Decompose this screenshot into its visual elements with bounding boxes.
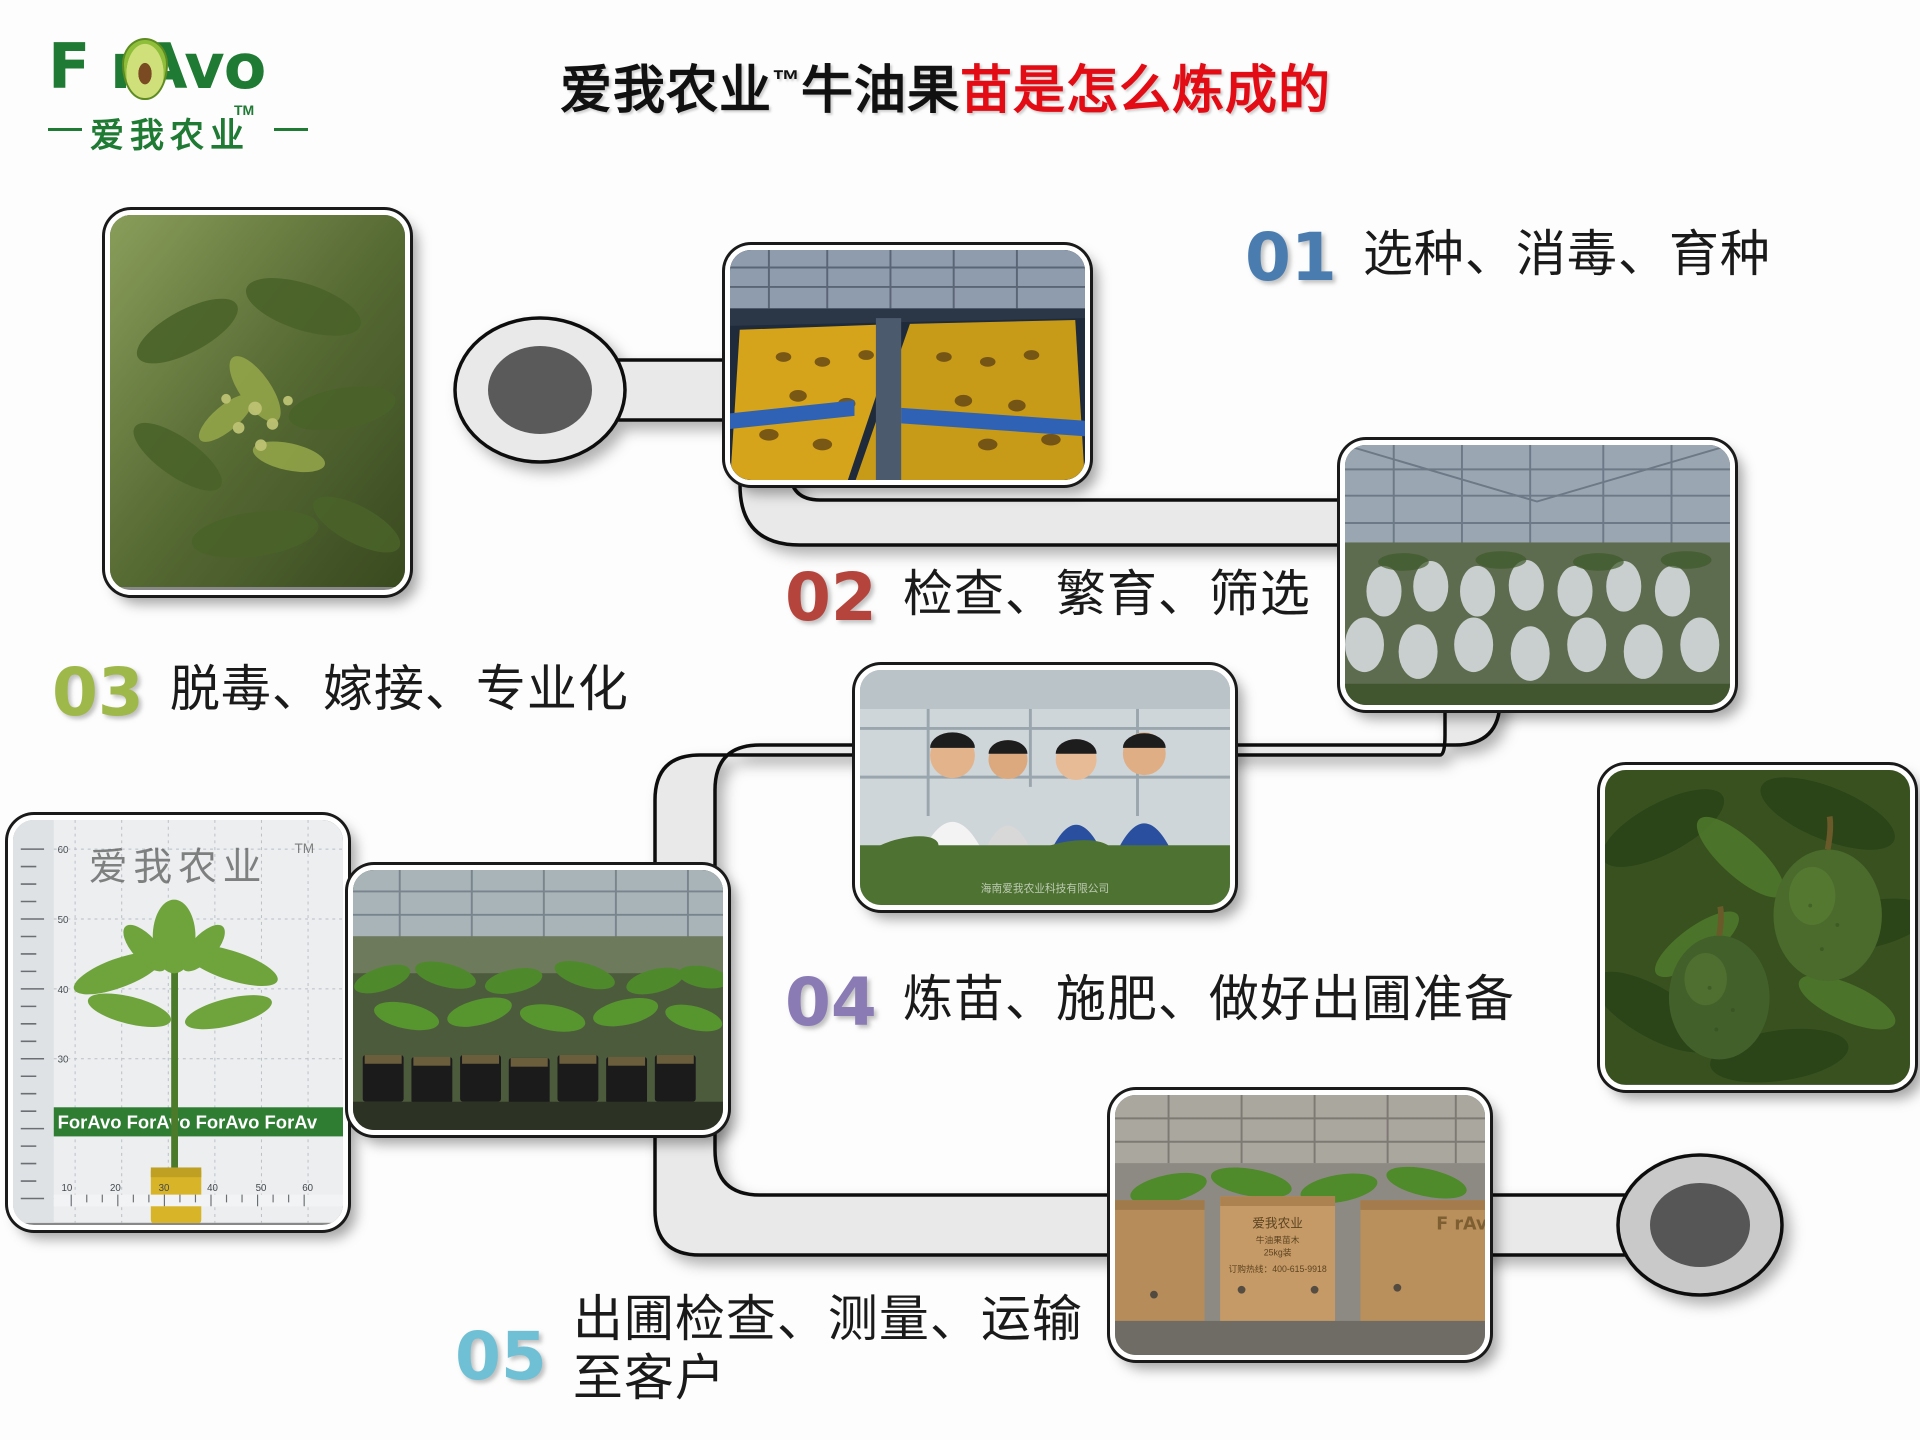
- svg-text:20: 20: [110, 1183, 121, 1194]
- svg-text:60: 60: [302, 1183, 313, 1194]
- photo-box-brand: 爱我农业: [1252, 1216, 1303, 1230]
- photo-potted-seedlings: [348, 865, 728, 1135]
- step-03-number: 03: [52, 660, 144, 726]
- title-part-red: 苗是怎么炼成的: [960, 62, 1331, 120]
- step-05-text-line2: 至客户: [573, 1349, 1083, 1408]
- step-04-text: 炼苗、施肥、做好出圃准备: [903, 970, 1515, 1029]
- page-title: 爱我农业™牛油果苗是怎么炼成的: [560, 48, 1331, 123]
- photo-seed-trays: [725, 245, 1090, 485]
- photo-avocado-flower: [105, 210, 410, 595]
- step-05-text-line1: 出圃检查、测量、运输: [573, 1291, 1083, 1347]
- step-05-text: 出圃检查、测量、运输 至客户: [573, 1290, 1083, 1408]
- photo-measuring-ruler-image: 605040 302010 爱我农业 TM ForAvo ForAvo ForA…: [13, 820, 343, 1223]
- photo-greenhouse-grafting-image: [1345, 445, 1730, 708]
- svg-text:60: 60: [58, 845, 69, 856]
- step-03: 03 脱毒、嫁接、专业化: [52, 660, 629, 726]
- svg-text:10: 10: [62, 1183, 73, 1194]
- photo-inspection-team-watermark: 海南爱我农业科技有限公司: [981, 882, 1109, 895]
- logo-wordmark-text: F rAvo: [48, 30, 318, 104]
- logo-rule-right: [274, 128, 308, 131]
- svg-text:40: 40: [58, 985, 69, 996]
- photo-box-foravo: F rAvo: [1436, 1214, 1485, 1234]
- step-05-number: 05: [455, 1324, 547, 1390]
- photo-ruler-band-text: ForAvo ForAvo ForAvo ForAv: [58, 1112, 318, 1133]
- step-01-number: 01: [1245, 225, 1337, 291]
- photo-avocado-fruit: [1600, 765, 1915, 1090]
- logo-chinese-row: 爱我农业 TM: [48, 106, 318, 148]
- photo-ruler-watermark-tm: TM: [294, 841, 314, 856]
- photo-box-line2: 牛油果苗木: [1256, 1234, 1300, 1245]
- svg-text:40: 40: [207, 1183, 218, 1194]
- photo-seed-trays-image: [730, 250, 1085, 483]
- ribbon-end-terminal: [1650, 1183, 1750, 1267]
- photo-inspection-team-image: 海南爱我农业科技有限公司: [860, 670, 1230, 909]
- infographic-canvas: F rAvo 爱我农业 TM 爱我农业™牛油果苗是怎么炼成的: [0, 0, 1920, 1440]
- step-02-number: 02: [785, 565, 877, 631]
- photo-measuring-ruler: 605040 302010 爱我农业 TM ForAvo ForAvo ForA…: [8, 815, 348, 1230]
- photo-potted-seedlings-image: [353, 870, 723, 1133]
- photo-avocado-fruit-image: [1605, 770, 1910, 1085]
- photo-box-weight: 25kg装: [1264, 1247, 1292, 1258]
- ribbon-start-terminal: [488, 346, 592, 434]
- logo-tm-mark: TM: [234, 102, 254, 118]
- logo-wordmark: F rAvo: [48, 30, 318, 104]
- photo-box-phone: 订购热线：400-615-9918: [1228, 1263, 1326, 1274]
- svg-text:50: 50: [256, 1183, 267, 1194]
- step-04-number: 04: [785, 970, 877, 1036]
- photo-greenhouse-grafting: [1340, 440, 1735, 710]
- title-part-black2: 牛油果: [801, 62, 960, 120]
- logo-rule-left: [48, 128, 82, 131]
- step-02-text: 检查、繁育、筛选: [903, 565, 1311, 624]
- step-03-text: 脱毒、嫁接、专业化: [170, 660, 629, 719]
- svg-text:30: 30: [58, 1055, 69, 1066]
- photo-shipping-boxes-image: 爱我农业 牛油果苗木 25kg装 订购热线：400-615-9918 F rAv…: [1115, 1095, 1485, 1358]
- photo-ruler-watermark: 爱我农业: [89, 846, 268, 889]
- photo-shipping-boxes: 爱我农业 牛油果苗木 25kg装 订购热线：400-615-9918 F rAv…: [1110, 1090, 1490, 1360]
- step-01: 01 选种、消毒、育种: [1245, 225, 1771, 291]
- step-02: 02 检查、繁育、筛选: [785, 565, 1311, 631]
- logo-chinese-text: 爱我农业: [90, 108, 250, 157]
- photo-inspection-team: 海南爱我农业科技有限公司: [855, 665, 1235, 910]
- svg-text:50: 50: [58, 915, 69, 926]
- step-05: 05 出圃检查、测量、运输 至客户: [455, 1290, 1083, 1408]
- step-01-text: 选种、消毒、育种: [1363, 225, 1771, 284]
- svg-text:30: 30: [159, 1183, 170, 1194]
- photo-avocado-flower-image: [110, 215, 405, 587]
- brand-logo: F rAvo 爱我农业 TM: [48, 30, 318, 150]
- title-part-black: 爱我农业: [560, 62, 772, 120]
- step-04: 04 炼苗、施肥、做好出圃准备: [785, 970, 1515, 1036]
- title-tm-mark: ™: [772, 65, 801, 96]
